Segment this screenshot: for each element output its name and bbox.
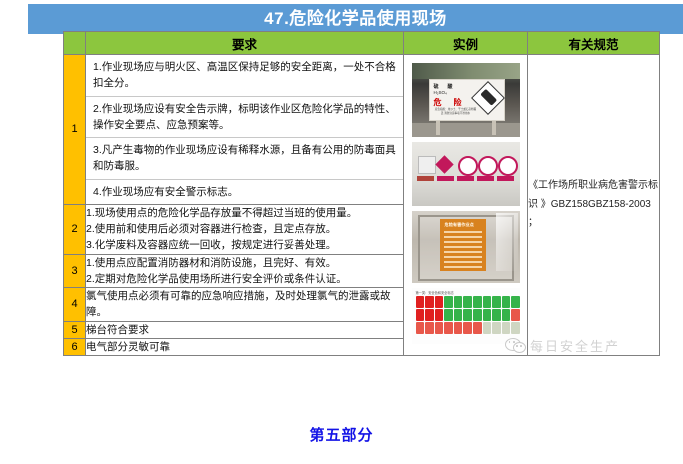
requirement-item: 2.定期对危险化学品使用场所进行安全评价或条件认证。 bbox=[86, 271, 403, 287]
photo-safety-sign-chart: 第一类：安全色和安全标志 bbox=[411, 287, 521, 345]
requirement-item: 电气部分灵敏可靠 bbox=[86, 339, 403, 355]
requirement-cell: 梯台符合要求 bbox=[86, 321, 404, 338]
requirement-cell: 电气部分灵敏可靠 bbox=[86, 338, 404, 355]
page-title: 47.危险化学品使用现场 bbox=[28, 4, 683, 34]
example-photos-cell: 硫 酸 H₂SO₄ 危 险 应急措施：用沙土、干土或石灰粉覆盖 消防注意事项不准… bbox=[404, 55, 528, 356]
requirement-cell: 1.现场使用点的危险化学品存放量不得超过当班的使用量。 2.使用前和使用后必须对… bbox=[86, 204, 404, 254]
photo-hazard-point-board: 危险有害作业点 bbox=[411, 210, 521, 284]
column-header-requirement: 要求 bbox=[86, 32, 404, 55]
prohibition-icon-no-fire bbox=[458, 156, 478, 176]
title-banner: 47.危险化学品使用现场 bbox=[28, 4, 683, 34]
requirement-item: 2.作业现场应设有安全告示牌，标明该作业区危险化学品的特性、操作安全要点、应急预… bbox=[86, 96, 403, 138]
table-header-row: 要求 实例 有关规范 bbox=[64, 32, 660, 55]
requirement-cell: 氯气使用点必须有可靠的应急响应措施，及时处理氯气的泄露或故障。 bbox=[86, 288, 404, 322]
sign-danger-word: 危 险 bbox=[434, 97, 464, 108]
slide-page: 47.危险化学品使用现场 要求 实例 有关规范 1 1.作业现场应与明火区、高温… bbox=[0, 0, 683, 464]
requirement-item: 梯台符合要求 bbox=[86, 322, 403, 338]
photo-wall-warning-pictograms bbox=[411, 141, 521, 207]
column-header-number bbox=[64, 32, 86, 55]
requirement-item: 1.现场使用点的危险化学品存放量不得超过当班的使用量。 bbox=[86, 205, 403, 221]
requirement-item: 2.使用前和使用后必须对容器进行检查，且定点存放。 bbox=[86, 221, 403, 237]
row-number: 5 bbox=[64, 321, 86, 338]
photo-sulfuric-acid-danger-sign: 硫 酸 H₂SO₄ 危 险 应急措施：用沙土、干土或石灰粉覆盖 消防注意事项不准… bbox=[411, 62, 521, 138]
requirement-item: 氯气使用点必须有可靠的应急响应措施，及时处理氯气的泄露或故障。 bbox=[86, 288, 403, 321]
requirement-cell: 1.作业现场应与明火区、高温区保持足够的安全距离，一处不合格扣全分。 2.作业现… bbox=[86, 55, 404, 205]
prohibition-icon-no-matches bbox=[498, 156, 518, 176]
row-number: 6 bbox=[64, 338, 86, 355]
row-number: 1 bbox=[64, 55, 86, 205]
requirement-cell: 1.使用点应配置消防器材和消防设施，且完好、有效。 2.定期对危险化学品使用场所… bbox=[86, 254, 404, 288]
requirement-item: 4.作业现场应有安全警示标志。 bbox=[86, 179, 403, 204]
table-row: 1 1.作业现场应与明火区、高温区保持足够的安全距离，一处不合格扣全分。 2.作… bbox=[64, 55, 660, 205]
requirement-item: 3.凡产生毒物的作业现场应设有稀释水源，且备有公用的防毒面具和防毒服。 bbox=[86, 138, 403, 180]
warning-icon-toxic bbox=[435, 155, 453, 173]
column-header-standard: 有关规范 bbox=[528, 32, 660, 55]
sign-grid bbox=[416, 296, 521, 334]
sign-emergency-note: 应急措施：用沙土、干土或石灰粉覆盖 消防注意事项不准用水 bbox=[434, 108, 478, 116]
requirement-item: 1.使用点应配置消防器材和消防设施，且完好、有效。 bbox=[86, 255, 403, 271]
requirement-item: 3.化学废料及容器应统一回收，按规定进行妥善处理。 bbox=[86, 237, 403, 253]
row-number: 4 bbox=[64, 288, 86, 322]
row-number: 2 bbox=[64, 204, 86, 254]
sign-title: 硫 酸 bbox=[434, 83, 455, 90]
sign-formula: H₂SO₄ bbox=[434, 90, 447, 95]
footer-label: 第五部分 bbox=[0, 424, 683, 445]
standard-reference-cell: 《工作场所职业病危害警示标识 》GBZ158GBZ158-2003 ； bbox=[528, 55, 660, 356]
board-title: 危险有害作业点 bbox=[445, 222, 474, 228]
prohibition-icon-no-smoking bbox=[478, 156, 498, 176]
requirements-table: 要求 实例 有关规范 1 1.作业现场应与明火区、高温区保持足够的安全距离，一处… bbox=[63, 31, 660, 356]
chart-caption: 第一类：安全色和安全标志 bbox=[416, 290, 454, 295]
column-header-example: 实例 bbox=[404, 32, 528, 55]
row-number: 3 bbox=[64, 254, 86, 288]
requirement-item: 1.作业现场应与明火区、高温区保持足够的安全距离，一处不合格扣全分。 bbox=[86, 55, 403, 96]
warning-icon-corrosive bbox=[418, 156, 436, 174]
